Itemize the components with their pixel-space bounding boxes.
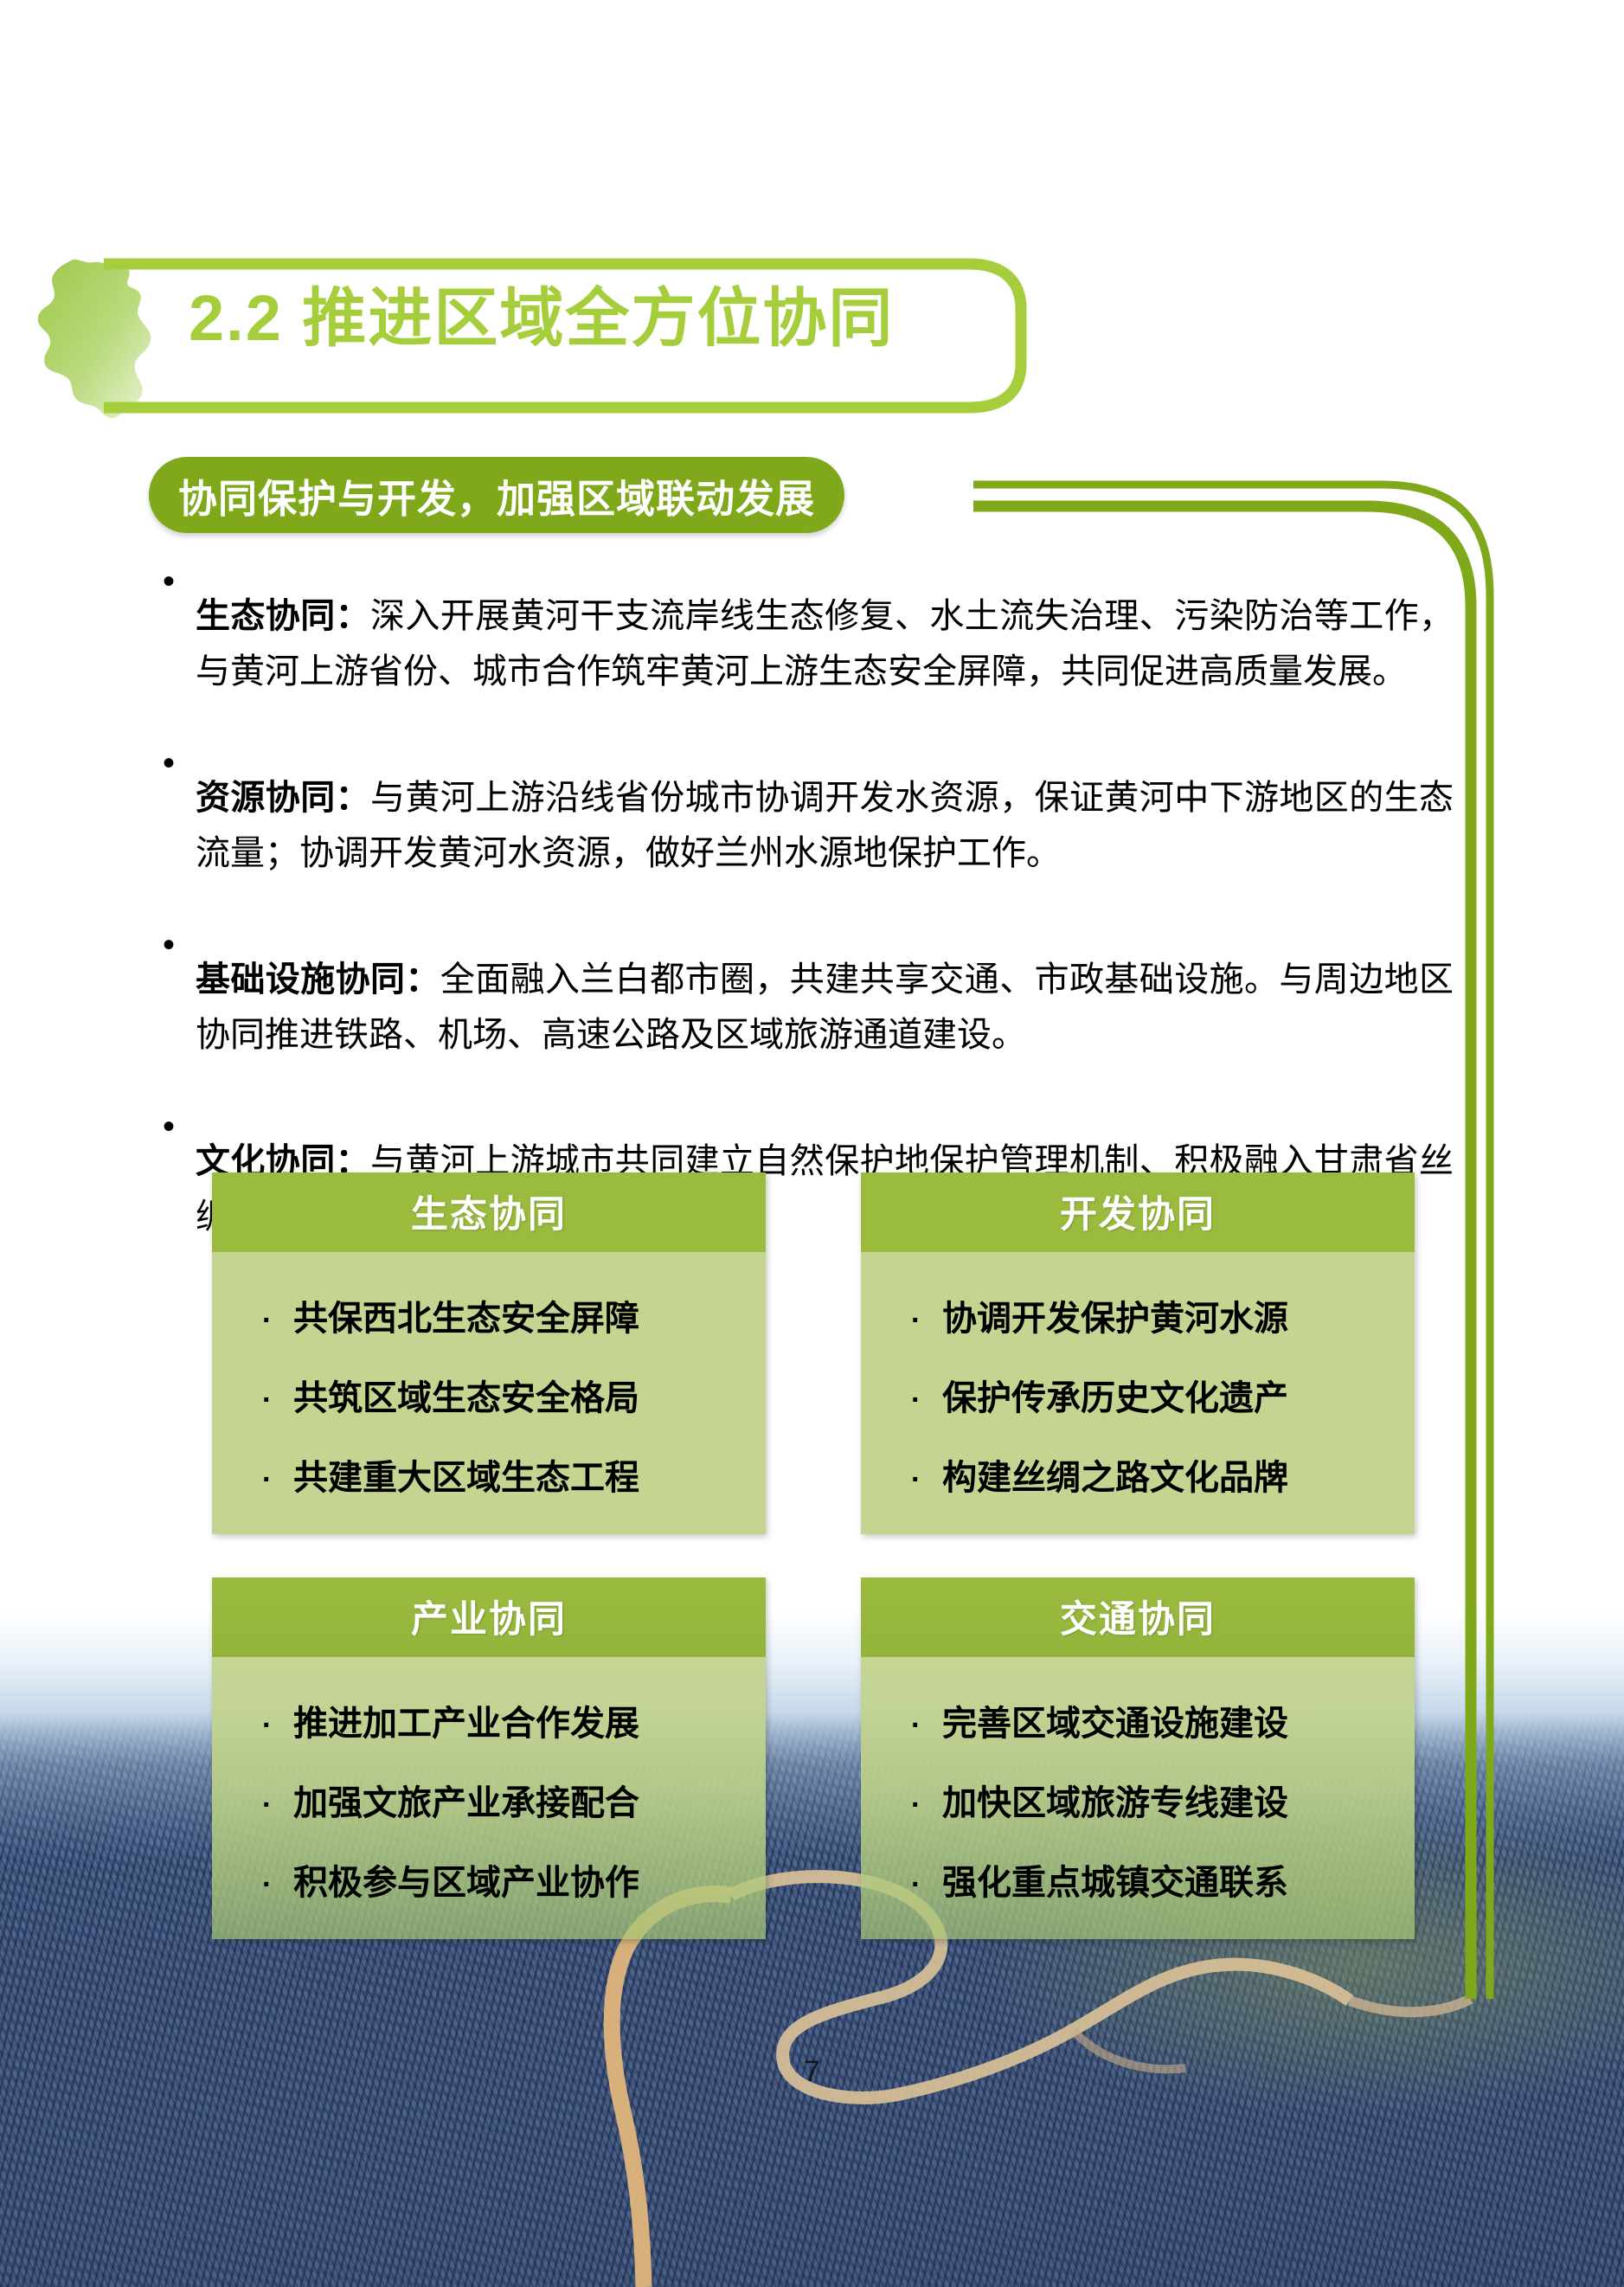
card-list-item: · 保护传承历史文化遗产: [911, 1370, 1415, 1420]
card-item-label: 积极参与区域产业协作: [293, 1854, 639, 1905]
card-item-label: 构建丝绸之路文化品牌: [942, 1449, 1288, 1500]
card-bullet-marker: ·: [911, 1709, 942, 1743]
card-bullet-marker: ·: [911, 1789, 942, 1822]
card-list-item: · 加快区域旅游专线建设: [911, 1775, 1415, 1825]
card-title: 生态协同: [212, 1172, 766, 1252]
section-title-block: 2.2 推进区域全方位协同: [24, 255, 1062, 428]
card-bullet-marker: ·: [262, 1304, 293, 1338]
card-list-item: · 构建丝绸之路文化品牌: [911, 1449, 1415, 1500]
bullet-paragraph: 资源协同：与黄河上游沿线省份城市协调开发水资源，保证黄河中下游地区的生态流量；协…: [196, 770, 1454, 881]
card-list-item: · 强化重点城镇交通联系: [911, 1854, 1415, 1905]
card-bullet-marker: ·: [262, 1384, 293, 1417]
card-body: · 完善区域交通设施建设 · 加快区域旅游专线建设 · 强化重点城镇交通联系: [861, 1657, 1415, 1939]
card-bullet-marker: ·: [911, 1384, 942, 1417]
bullet-lead: 生态协同：: [196, 597, 370, 635]
card-title: 开发协同: [861, 1172, 1415, 1252]
card-bullet-marker: ·: [262, 1789, 293, 1822]
subtitle-pill: 协同保护与开发，加强区域联动发展: [149, 457, 844, 533]
card-industry-synergy: 产业协同 · 推进加工产业合作发展 · 加强文旅产业承接配合 · 积极参与区域产…: [212, 1577, 766, 1939]
card-list-item: · 共筑区域生态安全格局: [262, 1370, 766, 1420]
card-transport-synergy: 交通协同 · 完善区域交通设施建设 · 加快区域旅游专线建设 · 强化重点城镇交…: [861, 1577, 1415, 1939]
card-list-item: · 完善区域交通设施建设: [911, 1695, 1415, 1745]
bullet-paragraph: 基础设施协同：全面融入兰白都市圈，共建共享交通、市政基础设施。与周边地区协同推进…: [196, 952, 1454, 1063]
card-list-item: · 共保西北生态安全屏障: [262, 1290, 766, 1340]
card-item-label: 共筑区域生态安全格局: [293, 1370, 639, 1420]
bullet-marker: •: [156, 1099, 196, 1154]
card-bullet-marker: ·: [262, 1709, 293, 1743]
bullet-body: 深入开展黄河干支流岸线生态修复、水土流失治理、污染防治等工作，与黄河上游省份、城…: [196, 597, 1454, 691]
card-bullet-marker: ·: [911, 1463, 942, 1497]
page-root: 2.2 推进区域全方位协同 协同保护与开发，加强区域联动发展 • 生态协同：深入…: [0, 0, 1624, 2287]
card-item-label: 保护传承历史文化遗产: [942, 1370, 1288, 1420]
card-item-label: 加强文旅产业承接配合: [293, 1775, 639, 1825]
card-item-label: 加快区域旅游专线建设: [942, 1775, 1288, 1825]
bullet-lead: 基础设施协同：: [196, 960, 440, 999]
card-title: 交通协同: [861, 1577, 1415, 1657]
synergy-card-grid: 生态协同 · 共保西北生态安全屏障 · 共筑区域生态安全格局 · 共建重大区域生…: [212, 1172, 1423, 1982]
bullet-marker: •: [156, 736, 196, 791]
card-body: · 推进加工产业合作发展 · 加强文旅产业承接配合 · 积极参与区域产业协作: [212, 1657, 766, 1939]
bullet-paragraph: 生态协同：深入开展黄河干支流岸线生态修复、水土流失治理、污染防治等工作，与黄河上…: [196, 588, 1454, 699]
card-item-label: 共建重大区域生态工程: [293, 1449, 639, 1500]
card-title: 产业协同: [212, 1577, 766, 1657]
bullet-item-infrastructure: • 基础设施协同：全面融入兰白都市圈，共建共享交通、市政基础设施。与周边地区协同…: [156, 917, 1454, 1097]
card-item-label: 完善区域交通设施建设: [942, 1695, 1288, 1745]
card-body: · 协调开发保护黄河水源 · 保护传承历史文化遗产 · 构建丝绸之路文化品牌: [861, 1252, 1415, 1534]
card-bullet-marker: ·: [262, 1868, 293, 1902]
bullet-lead: 资源协同：: [196, 779, 370, 817]
card-item-label: 协调开发保护黄河水源: [942, 1290, 1288, 1340]
card-ecological-synergy: 生态协同 · 共保西北生态安全屏障 · 共筑区域生态安全格局 · 共建重大区域生…: [212, 1172, 766, 1534]
card-item-label: 共保西北生态安全屏障: [293, 1290, 639, 1340]
card-bullet-marker: ·: [911, 1868, 942, 1902]
card-development-synergy: 开发协同 · 协调开发保护黄河水源 · 保护传承历史文化遗产 · 构建丝绸之路文…: [861, 1172, 1415, 1534]
card-list-item: · 推进加工产业合作发展: [262, 1695, 766, 1745]
bullet-marker: •: [156, 554, 196, 609]
subtitle-text: 协同保护与开发，加强区域联动发展: [178, 467, 815, 524]
bullet-body: 与黄河上游沿线省份城市协调开发水资源，保证黄河中下游地区的生态流量；协调开发黄河…: [196, 779, 1454, 872]
card-list-item: · 加强文旅产业承接配合: [262, 1775, 766, 1825]
card-item-label: 推进加工产业合作发展: [293, 1695, 639, 1745]
page-number: 7: [0, 2055, 1624, 2089]
bullet-item-resources: • 资源协同：与黄河上游沿线省份城市协调开发水资源，保证黄河中下游地区的生态流量…: [156, 736, 1454, 915]
bullet-marker: •: [156, 917, 196, 973]
bullet-list: • 生态协同：深入开展黄河干支流岸线生态修复、水土流失治理、污染防治等工作，与黄…: [156, 554, 1454, 1281]
card-list-item: · 协调开发保护黄河水源: [911, 1290, 1415, 1340]
card-bullet-marker: ·: [911, 1304, 942, 1338]
card-body: · 共保西北生态安全屏障 · 共筑区域生态安全格局 · 共建重大区域生态工程: [212, 1252, 766, 1534]
page-title: 2.2 推进区域全方位协同: [189, 286, 894, 350]
card-bullet-marker: ·: [262, 1463, 293, 1497]
bullet-item-ecology: • 生态协同：深入开展黄河干支流岸线生态修复、水土流失治理、污染防治等工作，与黄…: [156, 554, 1454, 734]
card-list-item: · 共建重大区域生态工程: [262, 1449, 766, 1500]
card-list-item: · 积极参与区域产业协作: [262, 1854, 766, 1905]
card-item-label: 强化重点城镇交通联系: [942, 1854, 1288, 1905]
card-row-bottom: 产业协同 · 推进加工产业合作发展 · 加强文旅产业承接配合 · 积极参与区域产…: [212, 1577, 1423, 1939]
card-row-top: 生态协同 · 共保西北生态安全屏障 · 共筑区域生态安全格局 · 共建重大区域生…: [212, 1172, 1423, 1534]
